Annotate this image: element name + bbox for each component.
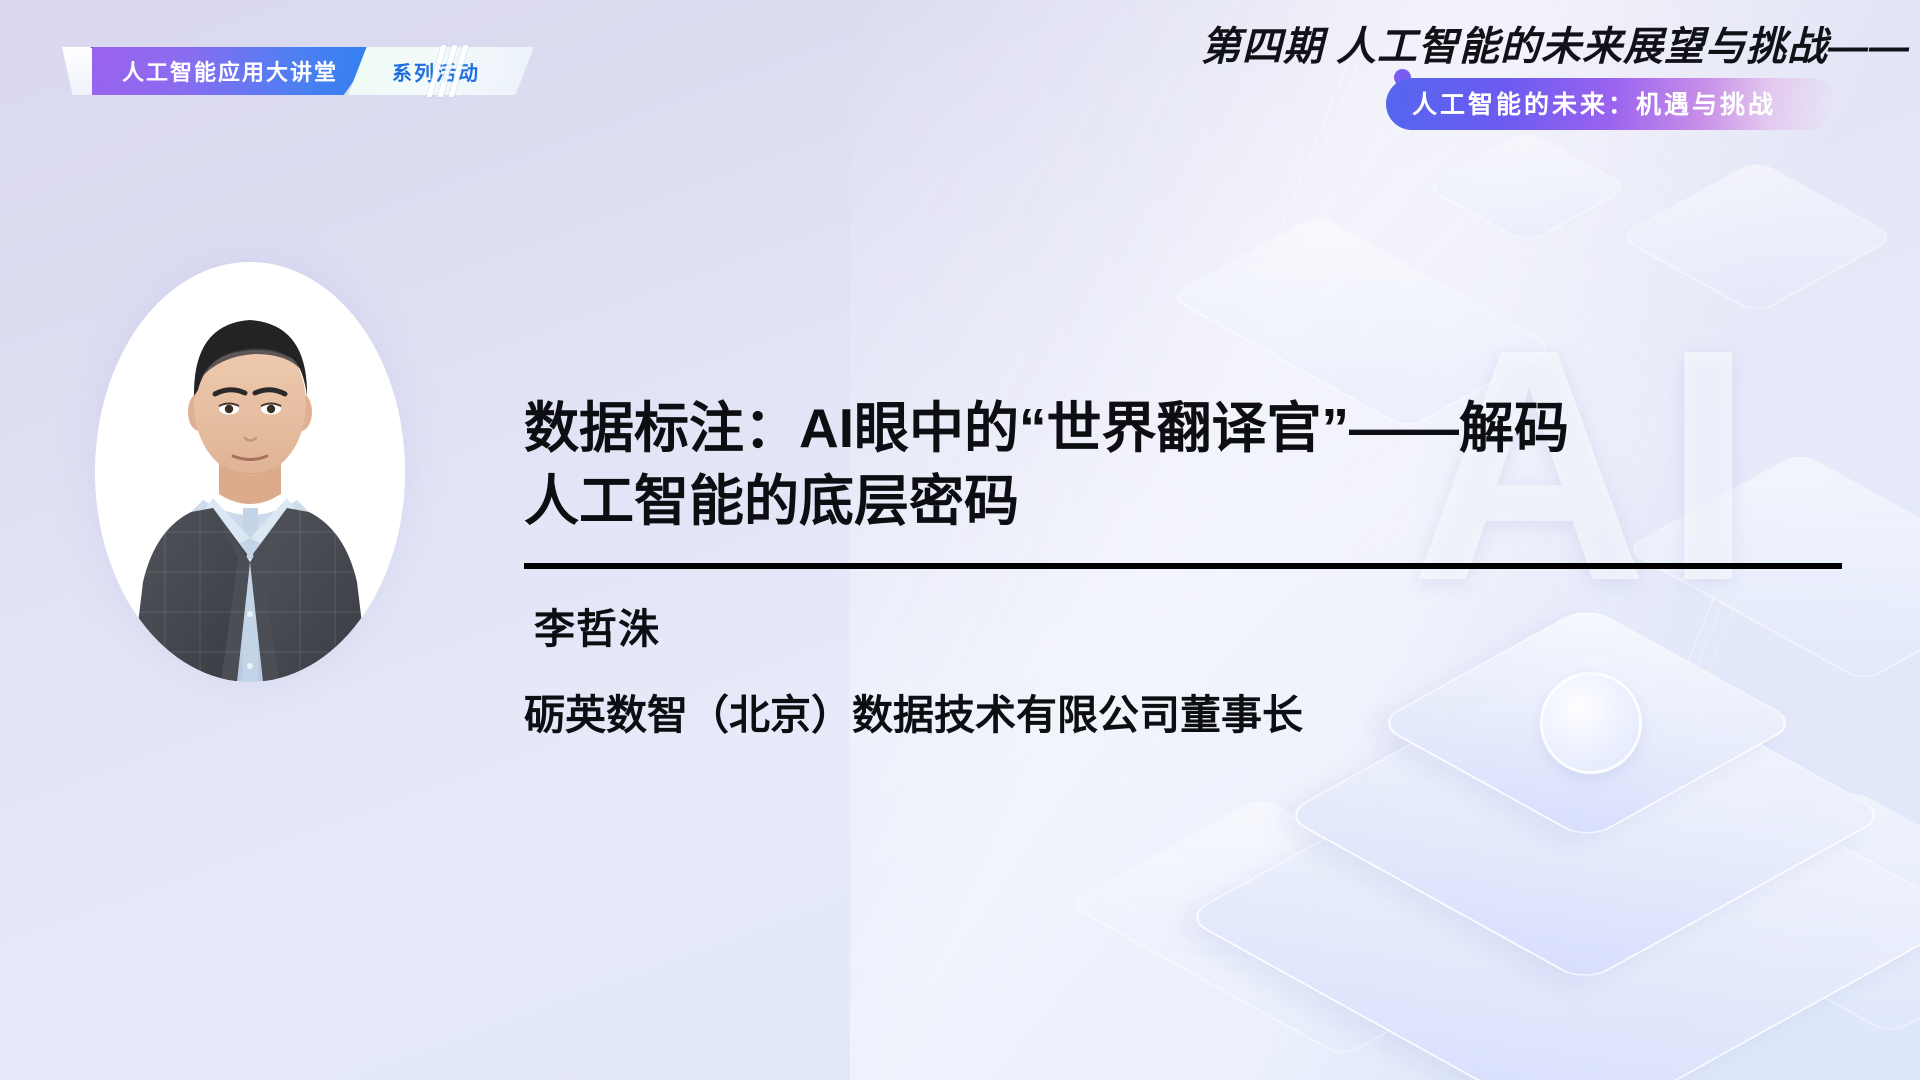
decor-cube-upper-right: [1617, 159, 1897, 314]
talk-title: 数据标注：AI眼中的“世界翻译官”——解码 人工智能的底层密码: [524, 392, 1854, 537]
subtitle-pill: 人工智能的未来：机遇与挑战: [1386, 78, 1836, 130]
banner-series-label: 人工智能应用大讲堂: [122, 55, 338, 87]
decor-panel-lower-left: [1066, 796, 1537, 1057]
decor-cube-small: [1423, 130, 1630, 245]
banner-stripe-accents: [432, 47, 472, 95]
title-divider: [524, 563, 1842, 569]
header-right-group: 第四期 人工智能的未来展望与挑战—— 人工智能的未来：机遇与挑战: [1201, 24, 1920, 130]
talk-title-line-1: 数据标注：AI眼中的“世界翻译官”——解码: [524, 392, 1854, 465]
talk-title-line-2: 人工智能的底层密码: [524, 465, 1854, 538]
slide-root: AI 人工智能应用大讲堂 系列活动 第四期 人工智能的未来展望与挑战—— 人工智…: [0, 0, 1920, 1080]
banner-main-block: 人工智能应用大讲堂: [92, 47, 378, 95]
title-block: 数据标注：AI眼中的“世界翻译官”——解码 人工智能的底层密码 李哲洙 砺英数智…: [524, 392, 1854, 741]
decor-panel-lower-right: [1650, 789, 1920, 1035]
subtitle-pill-wrapper: 人工智能的未来：机遇与挑战: [1386, 78, 1920, 130]
speaker-portrait: [95, 262, 405, 682]
decor-chip-base: [1182, 698, 1920, 1080]
speaker-name: 李哲洙: [534, 595, 1854, 655]
speaker-organization: 砺英数智（北京）数据技术有限公司董事长: [524, 681, 1854, 741]
episode-title: 第四期 人工智能的未来展望与挑战——: [1201, 24, 1920, 70]
